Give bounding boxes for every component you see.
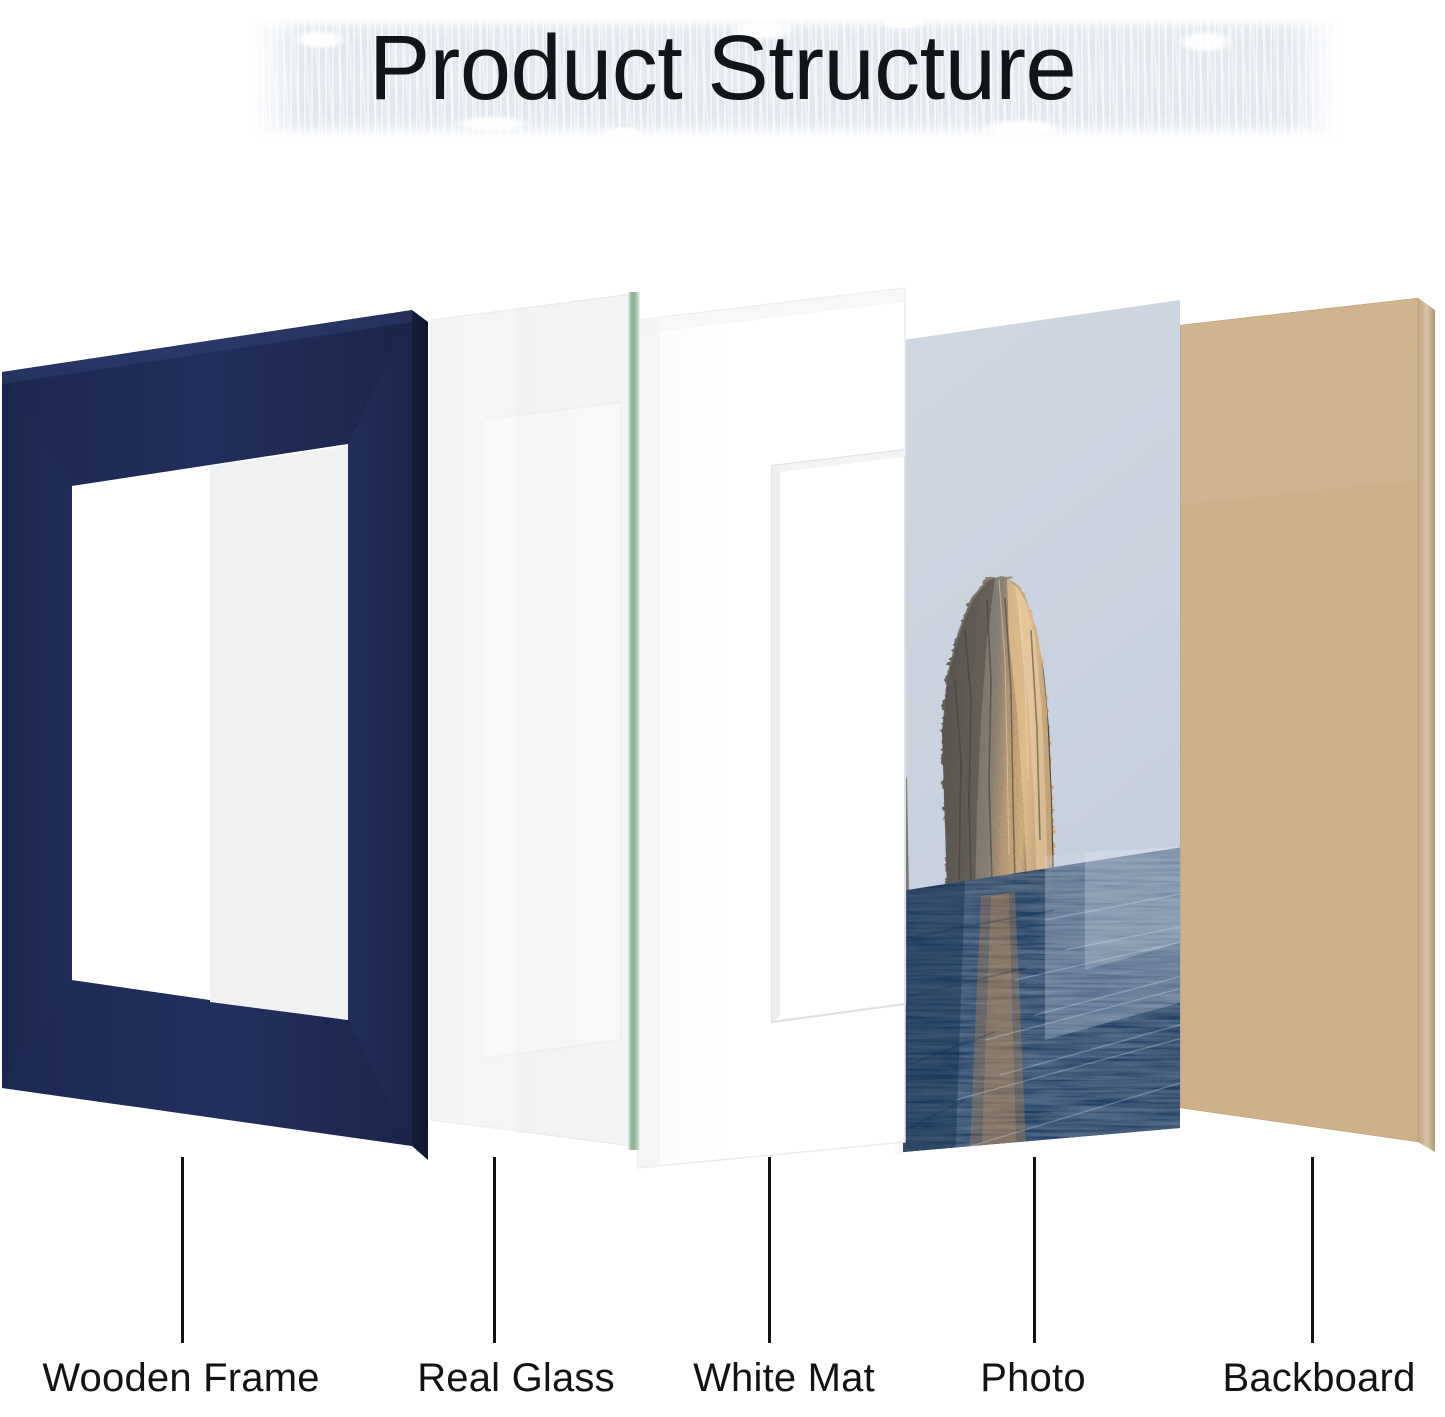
label-real-glass: Real Glass bbox=[417, 1355, 615, 1401]
leader-line-real-glass bbox=[493, 1157, 496, 1343]
label-backboard: Backboard bbox=[1222, 1355, 1415, 1401]
leader-line-photo bbox=[1033, 1157, 1036, 1343]
leader-line-wooden-frame bbox=[181, 1157, 184, 1343]
label-wooden-frame: Wooden Frame bbox=[42, 1355, 319, 1401]
leader-line-backboard bbox=[1311, 1157, 1314, 1343]
callout-group: Wooden Frame Real Glass White Mat Photo … bbox=[0, 0, 1445, 1417]
label-photo: Photo bbox=[980, 1355, 1086, 1401]
leader-line-white-mat bbox=[768, 1157, 771, 1343]
label-white-mat: White Mat bbox=[693, 1355, 875, 1401]
